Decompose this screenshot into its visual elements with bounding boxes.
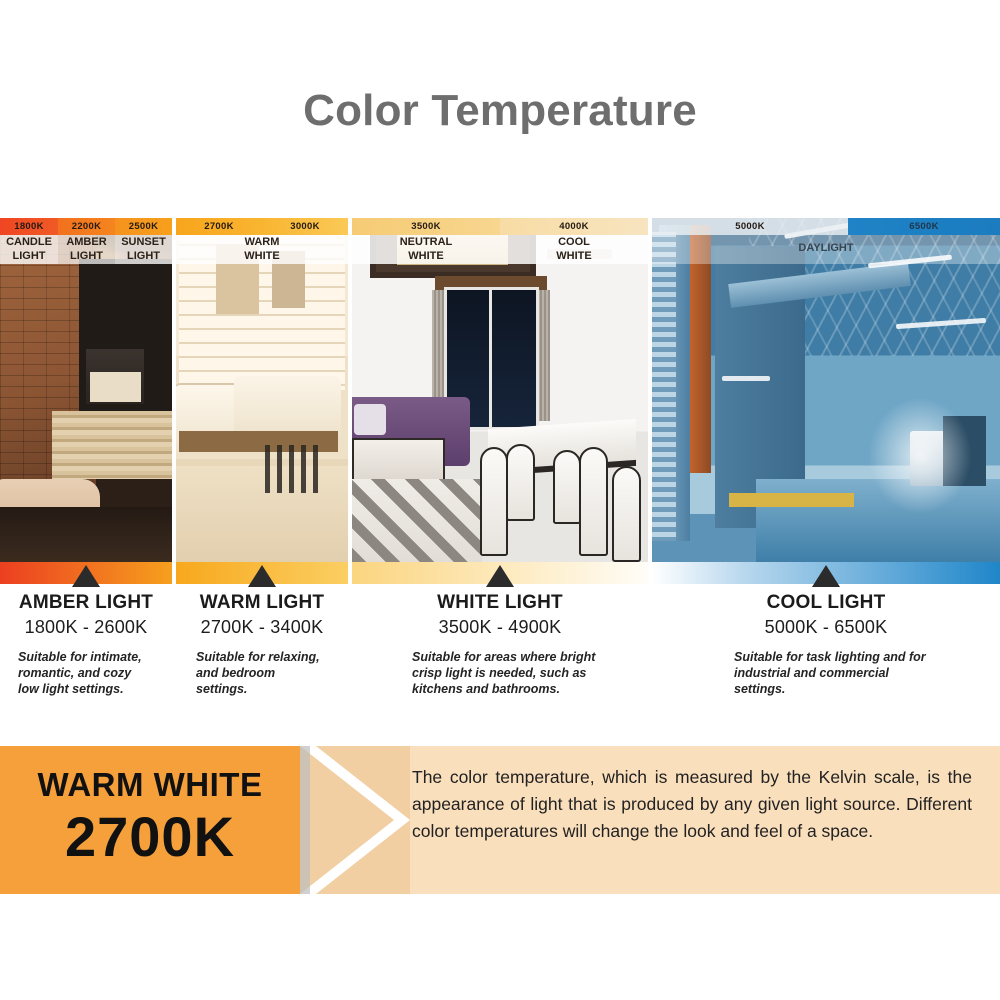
banner-accent-panel: WARM WHITE 2700K [0, 746, 300, 894]
scale-name-cool-white: COOLWHITE [500, 235, 648, 264]
kelvin-label-5000k: 5000K [652, 218, 848, 235]
kelvin-label-2700k: 2700K [176, 218, 262, 235]
kelvin-label-1800k: 1800K [0, 218, 58, 235]
photo-panel-white [352, 218, 648, 562]
banner-product-name: WARM WHITE [0, 766, 300, 804]
industrial-warehouse-photo [652, 218, 1000, 562]
category-description: Suitable for relaxing, and bedroom setti… [176, 649, 348, 697]
modern-living-dining-photo [352, 218, 648, 562]
scale-name-warm-white: WARMWHITE [176, 235, 348, 264]
category-description: Suitable for intimate, romantic, and coz… [0, 649, 172, 697]
brick-cafe-photo [0, 218, 172, 562]
marker-arrow-cool [812, 565, 840, 587]
category-title: AMBER LIGHT [0, 592, 172, 614]
category-amber-light: AMBER LIGHT 1800K - 2600K Suitable for i… [0, 592, 172, 697]
photo-panel-amber [0, 218, 172, 562]
category-range: 1800K - 2600K [0, 617, 172, 638]
scale-name-sunset-light: SUNSETLIGHT [115, 235, 172, 264]
category-description: Suitable for task lighting and for indus… [652, 649, 1000, 697]
category-range: 5000K - 6500K [652, 617, 1000, 638]
category-white-light: WHITE LIGHT 3500K - 4900K Suitable for a… [352, 592, 648, 697]
scale-segment-2500k: 2500K SUNSETLIGHT [115, 218, 172, 264]
kelvin-scale-header: 1800K CANDLELIGHT 2200K AMBERLIGHT 2500K… [0, 218, 1000, 264]
color-temperature-strip: 1800K CANDLELIGHT 2200K AMBERLIGHT 2500K… [0, 218, 1000, 562]
category-range: 3500K - 4900K [352, 617, 648, 638]
product-banner: WARM WHITE 2700K The color temperature, … [0, 746, 1000, 894]
photo-panel-cool [652, 218, 1000, 562]
category-cool-light: COOL LIGHT 5000K - 6500K Suitable for ta… [652, 592, 1000, 697]
category-title: WHITE LIGHT [352, 592, 648, 614]
category-title: WARM LIGHT [176, 592, 348, 614]
scale-name-amber-light: AMBERLIGHT [58, 235, 115, 264]
category-warm-light: WARM LIGHT 2700K - 3400K Suitable for re… [176, 592, 348, 697]
marker-arrow-white [486, 565, 514, 587]
kelvin-label-4000k: 4000K [500, 218, 648, 235]
scale-name-daylight: DAYLIGHT [652, 235, 1000, 264]
category-title: COOL LIGHT [652, 592, 1000, 614]
marker-arrow-amber [72, 565, 100, 587]
kelvin-label-3500k: 3500K [352, 218, 500, 235]
banner-body-text: The color temperature, which is measured… [412, 764, 972, 845]
kelvin-label-6500k: 6500K [848, 218, 1000, 235]
kelvin-label-2200k: 2200K [58, 218, 115, 235]
scale-name-candle-light: CANDLELIGHT [0, 235, 58, 264]
banner-product-kelvin: 2700K [0, 804, 300, 869]
photo-panel-warm [176, 218, 348, 562]
cream-living-room-photo [176, 218, 348, 562]
scale-name-neutral-white: NEUTRALWHITE [352, 235, 500, 264]
scale-segment-2200k: 2200K AMBERLIGHT [58, 218, 115, 264]
kelvin-label-3000k: 3000K [262, 218, 348, 235]
page-title: Color Temperature [0, 86, 1000, 136]
category-range: 2700K - 3400K [176, 617, 348, 638]
category-description: Suitable for areas where bright crisp li… [352, 649, 648, 697]
kelvin-label-2500k: 2500K [115, 218, 172, 235]
marker-arrow-warm [248, 565, 276, 587]
chevron-right-icon [300, 746, 410, 894]
category-captions: AMBER LIGHT 1800K - 2600K Suitable for i… [0, 592, 1000, 732]
scale-segment-1800k: 1800K CANDLELIGHT [0, 218, 58, 264]
